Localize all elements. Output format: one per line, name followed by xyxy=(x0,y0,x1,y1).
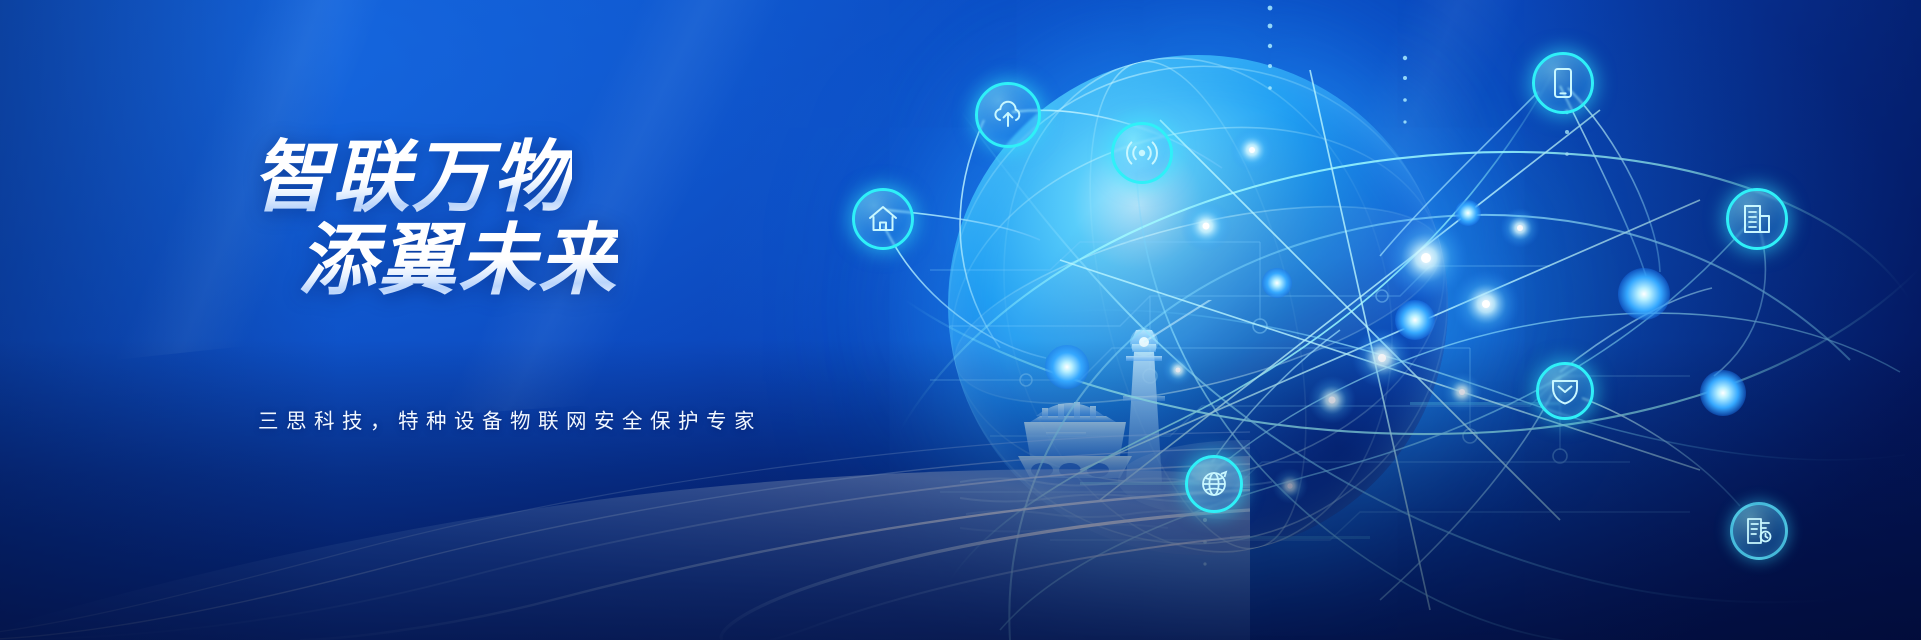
headline-block: 智联万物 添翼未来 xyxy=(252,136,1012,302)
headline-line-2: 添翼未来 xyxy=(252,216,618,304)
wifi-signal-node[interactable] xyxy=(1111,122,1173,184)
bottom-vignette xyxy=(0,340,1921,640)
glow-dot xyxy=(1455,200,1481,226)
shield-node[interactable] xyxy=(1536,362,1594,420)
banner-subtitle: 三思科技，特种设备物联网安全保护专家 xyxy=(258,404,958,434)
smartphone-node[interactable] xyxy=(1532,52,1594,114)
report-node[interactable] xyxy=(1730,502,1788,560)
cloud-upload-icon xyxy=(990,100,1026,130)
report-icon xyxy=(1744,516,1774,546)
headline-line-2-row: 添翼未来 xyxy=(252,218,1012,302)
building-icon xyxy=(1742,203,1772,235)
globe-web-node[interactable] xyxy=(1185,455,1243,513)
wifi-signal-icon xyxy=(1125,138,1159,168)
glow-dot xyxy=(1700,370,1746,416)
smartphone-icon xyxy=(1552,67,1574,99)
headline-line-1: 智联万物 xyxy=(252,133,572,221)
building-node[interactable] xyxy=(1726,188,1788,250)
glow-dot xyxy=(1045,345,1089,389)
globe-icon xyxy=(1199,469,1229,499)
glow-dot xyxy=(1395,300,1435,340)
headline-line-1-row: 智联万物 xyxy=(252,136,1012,218)
glow-dot xyxy=(1262,268,1292,298)
shield-icon xyxy=(1550,376,1580,406)
hero-banner: 智联万物 添翼未来 三思科技，特种设备物联网安全保护专家 xyxy=(0,0,1921,640)
glow-dot xyxy=(1618,268,1670,320)
